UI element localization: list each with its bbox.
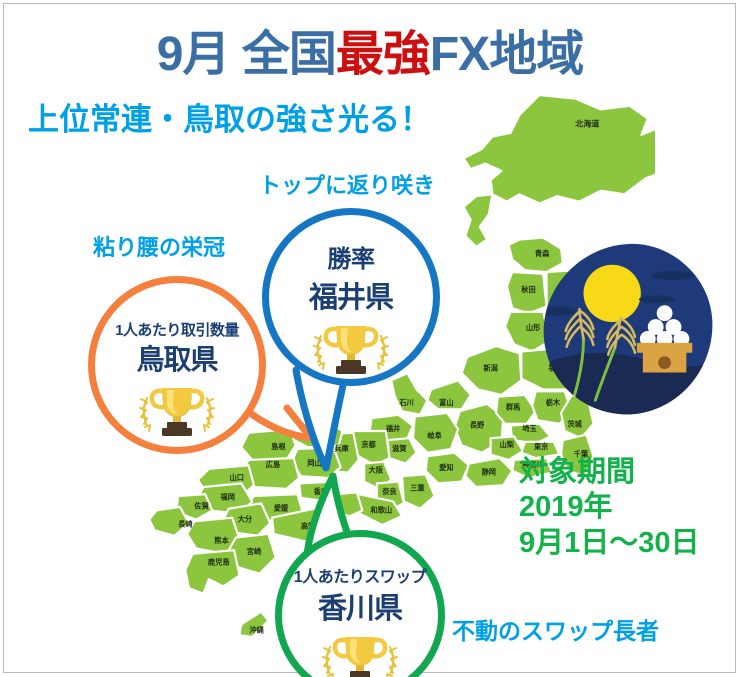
callout-tottori-tagline: 粘り腰の栄冠: [93, 230, 225, 262]
period-label: 対象期間: [519, 455, 700, 490]
prefecture-hokkaido: [464, 95, 655, 203]
map-label-福井: 福井: [385, 424, 400, 433]
map-label-北海道: 北海道: [575, 119, 600, 129]
map-label-熊本: 熊本: [214, 536, 229, 545]
map-label-秋田: 秋田: [521, 285, 535, 294]
infographic-canvas: 北海道青森秋田岩手山形宮城新潟福島富山石川群馬栃木茨城福井長野埼玉岐阜滋賀京都兵…: [0, 0, 740, 677]
prefecture-ishikawa: [391, 373, 427, 415]
map-label-大阪: 大阪: [369, 466, 384, 475]
callout-fukui-category: 勝率: [328, 239, 375, 274]
trophy-icon: [134, 382, 220, 438]
cloud-icon: [651, 271, 695, 280]
map-label-富山: 富山: [439, 398, 453, 407]
map-label-和歌山: 和歌山: [370, 505, 392, 514]
map-label-東京: 東京: [533, 442, 548, 451]
target-period-block: 対象期間 2019年 9月1日～30日: [519, 455, 700, 561]
callout-fukui-tagline: トップに返り咲き: [259, 168, 435, 200]
page-subtitle: 上位常連・鳥取の強さ光る！: [28, 94, 431, 139]
title-pre: 9月 全国: [157, 28, 336, 81]
map-label-山口: 山口: [230, 473, 244, 482]
prefecture-kagoshima: [185, 550, 239, 593]
map-label-茨城: 茨城: [567, 419, 582, 428]
period-range: 9月1日～30日: [519, 526, 700, 561]
map-label-新潟: 新潟: [483, 363, 497, 372]
map-label-滋賀: 滋賀: [392, 444, 407, 453]
full-moon-icon: [584, 265, 641, 322]
map-label-佐賀: 佐賀: [193, 502, 209, 511]
map-label-広島: 広島: [266, 460, 280, 469]
callout-fukui-prefecture: 福井県: [309, 274, 393, 316]
map-label-奈良: 奈良: [381, 487, 397, 496]
trophy-icon: [317, 631, 403, 677]
map-label-山形: 山形: [526, 323, 541, 332]
cloud-icon: [639, 295, 675, 303]
callout-tottori-prefecture: 鳥取県: [136, 338, 217, 378]
title-accent: 最強: [336, 28, 430, 81]
map-label-岐阜: 岐阜: [427, 431, 441, 440]
callout-kagawa-tagline: 不動のスワップ長者: [452, 612, 659, 646]
tsukimi-moon-viewing-illustration: [540, 240, 718, 418]
map-label-京都: 京都: [361, 440, 376, 449]
map-label-鹿児島: 鹿児島: [208, 558, 230, 567]
map-label-静岡: 静岡: [482, 467, 496, 476]
map-label-沖縄: 沖縄: [249, 625, 264, 634]
map-label-群馬: 群馬: [506, 402, 520, 411]
trophy-icon: [308, 320, 394, 376]
map-label-大分: 大分: [238, 514, 253, 523]
map-label-愛媛: 愛媛: [274, 503, 289, 512]
callout-tottori-category: 1人あたり取引数量: [115, 319, 239, 340]
map-label-埼玉: 埼玉: [522, 424, 536, 433]
callout-fukui-bubble[interactable]: 勝率 福井県: [262, 208, 440, 386]
map-label-福岡: 福岡: [220, 493, 235, 502]
callout-tottori-bubble[interactable]: 1人あたり取引数量 鳥取県: [88, 276, 266, 454]
map-label-宮崎: 宮崎: [247, 547, 262, 556]
hokkaido-peninsula: [464, 194, 493, 246]
callout-kagawa-category: 1人あたりスワップ: [294, 563, 426, 587]
map-label-長野: 長野: [470, 420, 485, 429]
period-year: 2019年: [519, 490, 700, 525]
title-post: FX地域: [430, 28, 583, 81]
callout-kagawa-prefecture: 香川県: [318, 585, 402, 627]
map-label-愛知: 愛知: [439, 463, 453, 472]
map-label-山梨: 山梨: [500, 440, 515, 449]
map-label-長崎: 長崎: [178, 520, 193, 529]
map-label-石川: 石川: [398, 398, 413, 407]
map-label-三重: 三重: [410, 484, 424, 493]
page-title: 9月 全国最強FX地域: [0, 14, 740, 84]
